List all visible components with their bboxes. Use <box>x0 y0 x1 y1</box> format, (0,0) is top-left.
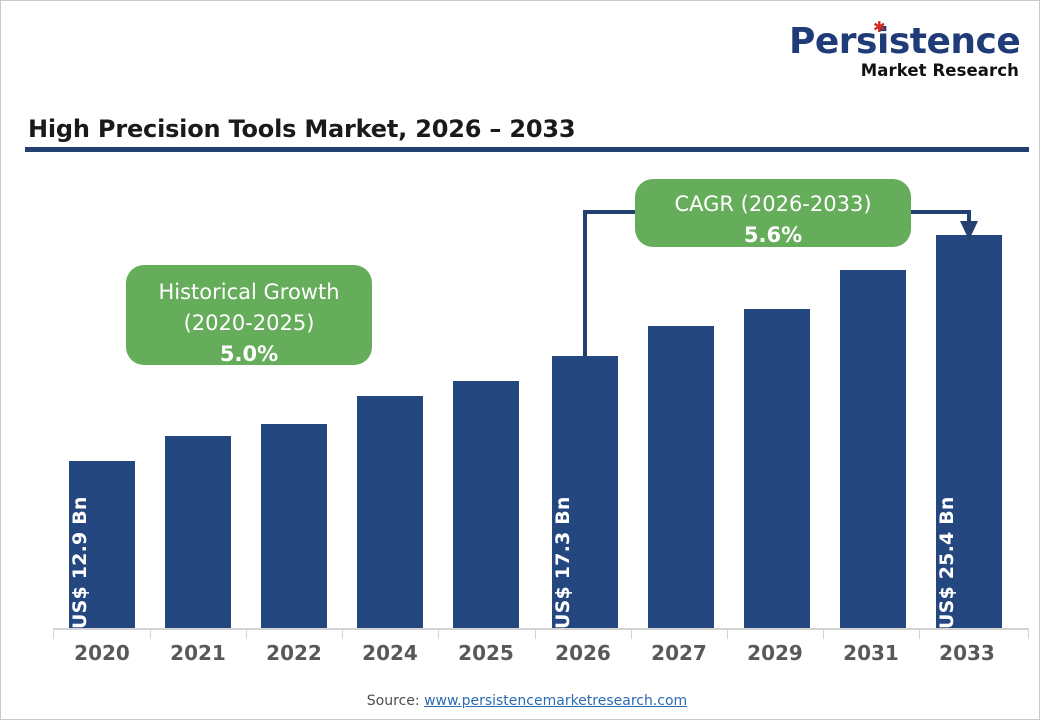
x-axis-tick <box>727 630 728 639</box>
x-tick-label-2025: 2025 <box>438 641 534 665</box>
x-tick-label-2020: 2020 <box>54 641 150 665</box>
x-tick-label-2024: 2024 <box>342 641 438 665</box>
x-axis-tick <box>246 630 247 639</box>
x-axis-tick <box>535 630 536 639</box>
historical-growth-value: 5.0% <box>126 339 372 370</box>
x-axis-tick <box>438 630 439 639</box>
bar-2021 <box>165 436 231 628</box>
cagr-value: 5.6% <box>635 220 911 251</box>
source-line: Source: www.persistencemarketresearch.co… <box>7 693 1040 709</box>
historical-growth-callout: Historical Growth (2020-2025) 5.0% <box>126 265 372 365</box>
source-link[interactable]: www.persistencemarketresearch.com <box>424 693 687 709</box>
x-axis-tick <box>823 630 824 639</box>
x-tick-label-2022: 2022 <box>246 641 342 665</box>
bar-2031 <box>840 270 906 628</box>
chart-frame: Persistence ✱ Market Research High Preci… <box>7 7 1033 713</box>
x-axis-tick <box>342 630 343 639</box>
x-axis-tick <box>1028 630 1029 639</box>
cagr-line1: CAGR (2026-2033) <box>635 189 911 220</box>
x-axis-tick <box>53 630 54 639</box>
bar-label-2020: US$ 12.9 Bn <box>69 496 91 629</box>
bar-2024 <box>357 396 423 628</box>
bar-2027 <box>648 326 714 628</box>
x-axis-tick <box>631 630 632 639</box>
bar-label-2026: US$ 17.3 Bn <box>552 496 574 629</box>
x-tick-label-2026: 2026 <box>535 641 631 665</box>
chart-image: Persistence ✱ Market Research High Preci… <box>0 0 1040 720</box>
historical-growth-line2: (2020-2025) <box>126 308 372 339</box>
source-prefix: Source: <box>367 693 424 709</box>
x-tick-label-2031: 2031 <box>823 641 919 665</box>
x-tick-label-2027: 2027 <box>631 641 727 665</box>
cagr-callout: CAGR (2026-2033) 5.6% <box>635 179 911 247</box>
x-axis-tick <box>919 630 920 639</box>
historical-growth-line1: Historical Growth <box>126 277 372 308</box>
bar-2022 <box>261 424 327 628</box>
x-tick-label-2033: 2033 <box>919 641 1015 665</box>
x-tick-label-2021: 2021 <box>150 641 246 665</box>
x-tick-label-2029: 2029 <box>727 641 823 665</box>
bar-2025 <box>453 381 519 628</box>
x-axis-line <box>53 628 1029 630</box>
bar-label-2033: US$ 25.4 Bn <box>936 496 958 629</box>
x-axis-tick <box>150 630 151 639</box>
bar-2029 <box>744 309 810 628</box>
